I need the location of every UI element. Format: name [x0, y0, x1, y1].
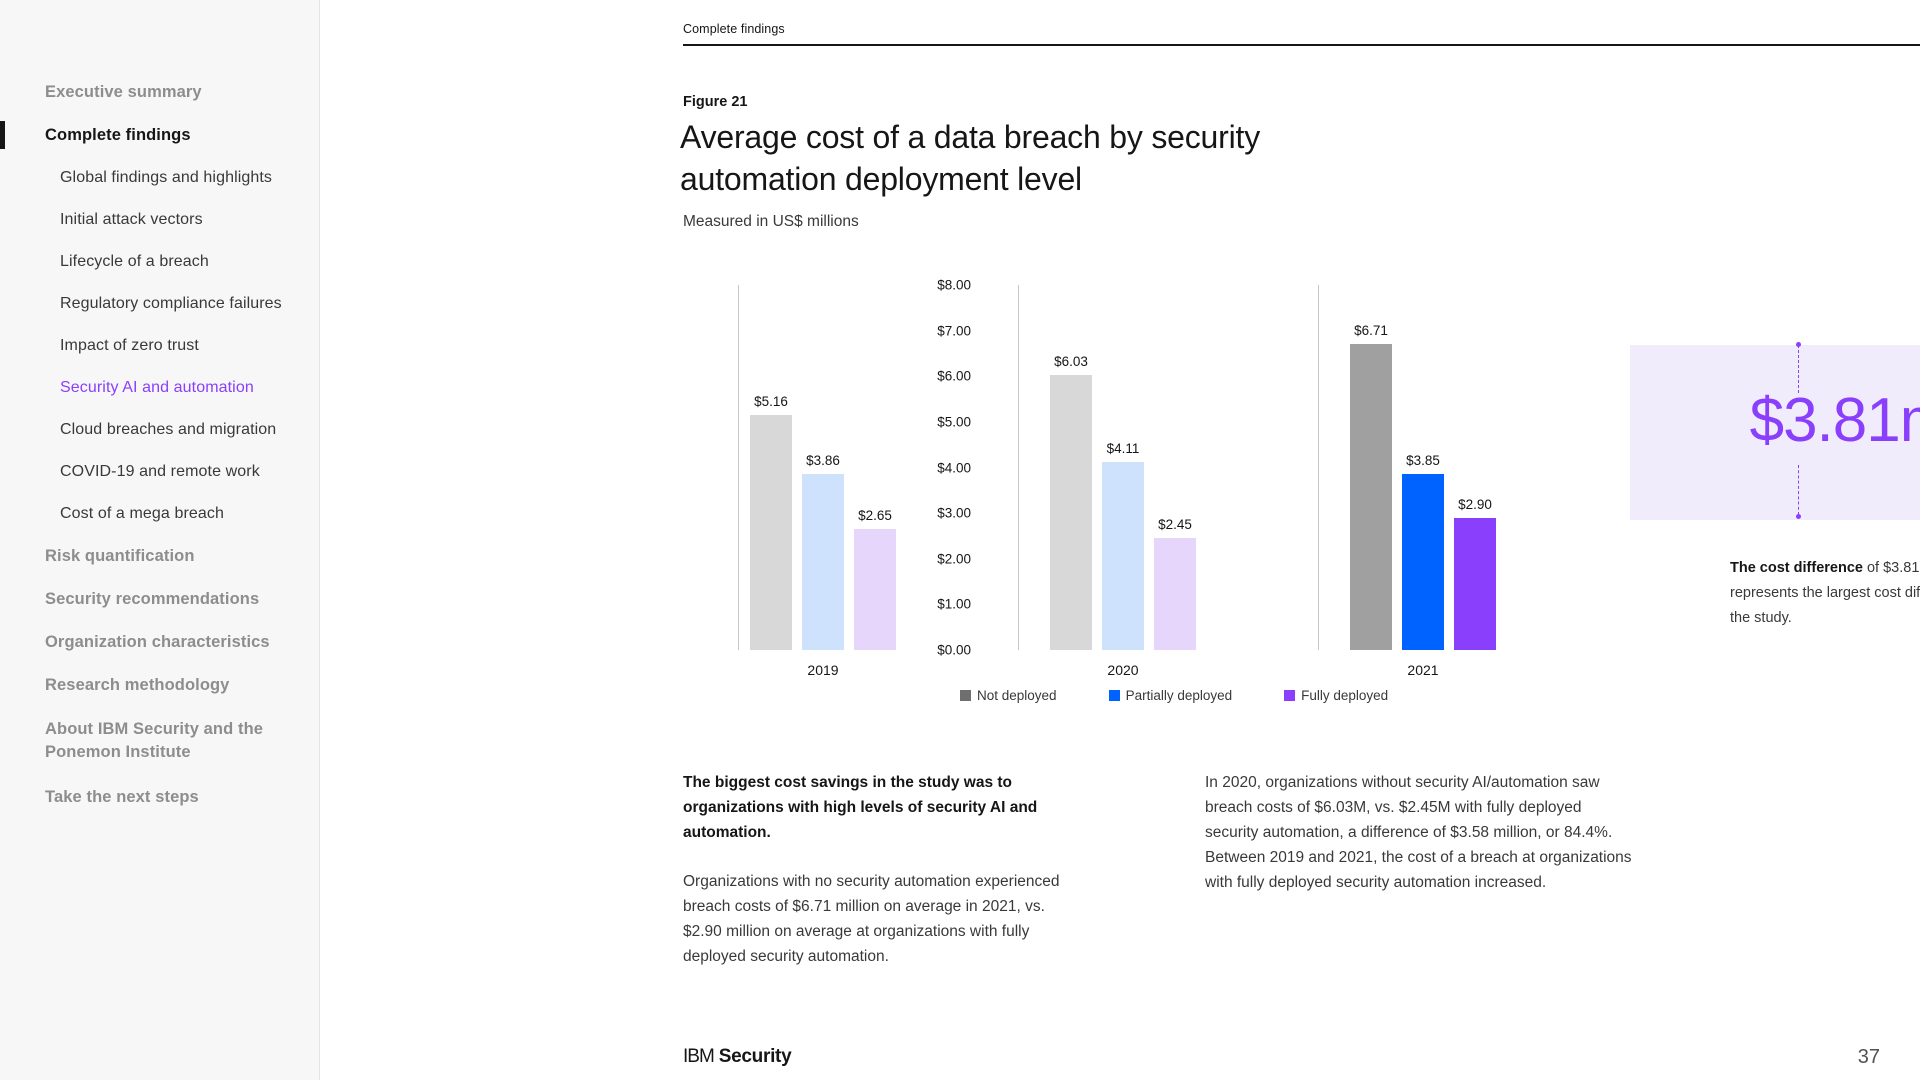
- group-separator-line: [1318, 285, 1319, 650]
- sidebar-item-label: Cloud breaches and migration: [60, 421, 276, 438]
- report-page: Executive summaryComplete findingsGlobal…: [0, 0, 1920, 1080]
- sidebar-item-label: Risk quantification: [45, 547, 195, 565]
- bar: [1102, 462, 1144, 650]
- bar: [1154, 538, 1196, 650]
- sidebar-nav: Executive summaryComplete findingsGlobal…: [0, 0, 320, 1080]
- legend-label: Fully deployed: [1301, 688, 1388, 703]
- left-lead-paragraph: The biggest cost savings in the study wa…: [683, 770, 1083, 845]
- callout-dot-bottom: [1796, 514, 1801, 519]
- bar: [1050, 375, 1092, 650]
- sidebar-item-label: Lifecycle of a breach: [60, 253, 209, 270]
- bar-value-label: $2.45: [1130, 517, 1220, 532]
- page-title: Average cost of a data breach by securit…: [680, 116, 1300, 200]
- callout-caption: The cost difference of $3.81 million rep…: [1730, 556, 1920, 631]
- sidebar-item-global-findings-and-highlights[interactable]: Global findings and highlights: [0, 168, 319, 188]
- sidebar-item-list: Executive summaryComplete findingsGlobal…: [0, 82, 319, 807]
- bar: [802, 474, 844, 650]
- bar: [1454, 518, 1496, 650]
- callout-dashed-line-bottom: [1798, 465, 1799, 515]
- sidebar-item-regulatory-compliance-failures[interactable]: Regulatory compliance failures: [0, 294, 319, 314]
- sidebar-item-impact-of-zero-trust[interactable]: Impact of zero trust: [0, 336, 319, 356]
- sidebar-item-risk-quantification[interactable]: Risk quantification: [0, 546, 319, 566]
- x-axis-group-label: 2019: [807, 662, 838, 678]
- sidebar-item-label: Cost of a mega breach: [60, 505, 224, 522]
- legend-item[interactable]: Fully deployed: [1284, 688, 1388, 703]
- legend-item[interactable]: Partially deployed: [1109, 688, 1233, 703]
- sidebar-item-label: About IBM Security and the Ponemon Insti…: [45, 720, 263, 761]
- sidebar-item-label: Take the next steps: [45, 788, 199, 806]
- legend-swatch-icon: [1284, 690, 1295, 701]
- bar-value-label: $3.86: [778, 453, 868, 468]
- sidebar-item-label: Research methodology: [45, 676, 229, 694]
- sidebar-item-label: Complete findings: [45, 126, 191, 144]
- sidebar-item-cloud-breaches-and-migration[interactable]: Cloud breaches and migration: [0, 420, 319, 440]
- legend-label: Not deployed: [977, 688, 1057, 703]
- body-column-left: The biggest cost savings in the study wa…: [683, 770, 1083, 969]
- bar-value-label: $2.65: [830, 508, 920, 523]
- bar: [750, 415, 792, 650]
- bar-value-label: $4.11: [1078, 441, 1168, 456]
- sidebar-item-lifecycle-of-a-breach[interactable]: Lifecycle of a breach: [0, 252, 319, 272]
- figure-subtitle: Measured in US$ millions: [683, 213, 859, 231]
- sidebar-item-label: Security AI and automation: [60, 379, 254, 396]
- page-number: 37: [1858, 1046, 1880, 1069]
- sidebar-item-label: Regulatory compliance failures: [60, 295, 282, 312]
- main-content: Complete findings Figure 21 Average cost…: [320, 0, 1920, 1080]
- legend-swatch-icon: [1109, 690, 1120, 701]
- right-body-paragraph: In 2020, organizations without security …: [1205, 770, 1635, 895]
- bar: [854, 529, 896, 650]
- sidebar-item-complete-findings[interactable]: Complete findings: [0, 125, 319, 145]
- body-column-right: In 2020, organizations without security …: [1205, 770, 1635, 895]
- sidebar-item-label: Global findings and highlights: [60, 169, 272, 186]
- bar-value-label: $3.85: [1378, 453, 1468, 468]
- logo-ibm-text: IBM: [683, 1046, 714, 1067]
- header-divider: [683, 44, 1920, 46]
- plot-area: $5.16$3.86$2.652019$6.03$4.11$2.452020$6…: [738, 285, 1638, 650]
- bar-value-label: $5.16: [726, 394, 816, 409]
- legend-label: Partially deployed: [1126, 688, 1233, 703]
- sidebar-item-security-ai-and-automation[interactable]: Security AI and automation: [0, 378, 319, 398]
- breadcrumb: Complete findings: [683, 22, 785, 36]
- legend-item[interactable]: Not deployed: [960, 688, 1057, 703]
- sidebar-item-label: COVID-19 and remote work: [60, 463, 260, 480]
- sidebar-item-research-methodology[interactable]: Research methodology: [0, 675, 319, 695]
- sidebar-item-about-ibm-security-and-the-ponemon-institute[interactable]: About IBM Security and the Ponemon Insti…: [0, 718, 319, 764]
- sidebar-item-executive-summary[interactable]: Executive summary: [0, 82, 319, 102]
- sidebar-item-label: Initial attack vectors: [60, 211, 203, 228]
- chart-legend: Not deployedPartially deployedFully depl…: [960, 688, 1388, 703]
- sidebar-item-organization-characteristics[interactable]: Organization characteristics: [0, 632, 319, 652]
- sidebar-item-security-recommendations[interactable]: Security recommendations: [0, 589, 319, 609]
- sidebar-item-label: Security recommendations: [45, 590, 259, 608]
- sidebar-item-cost-of-a-mega-breach[interactable]: Cost of a mega breach: [0, 504, 319, 524]
- callout-caption-bold: The cost difference: [1730, 560, 1863, 576]
- x-axis-group-label: 2020: [1107, 662, 1138, 678]
- legend-swatch-icon: [960, 690, 971, 701]
- sidebar-item-label: Organization characteristics: [45, 633, 270, 651]
- left-body-paragraph: Organizations with no security automatio…: [683, 869, 1083, 969]
- bar: [1350, 344, 1392, 650]
- figure-label: Figure 21: [683, 94, 747, 110]
- group-separator-line: [1018, 285, 1019, 650]
- sidebar-item-label: Executive summary: [45, 83, 202, 101]
- bar-value-label: $2.90: [1430, 497, 1520, 512]
- sidebar-item-take-the-next-steps[interactable]: Take the next steps: [0, 787, 319, 807]
- sidebar-item-covid-19-and-remote-work[interactable]: COVID-19 and remote work: [0, 462, 319, 482]
- sidebar-item-initial-attack-vectors[interactable]: Initial attack vectors: [0, 210, 319, 230]
- callout-value: $3.81m: [1650, 385, 1920, 457]
- sidebar-item-label: Impact of zero trust: [60, 337, 199, 354]
- x-axis-group-label: 2021: [1407, 662, 1438, 678]
- bar-value-label: $6.03: [1026, 354, 1116, 369]
- ibm-security-logo: IBM Security: [683, 1046, 791, 1068]
- bar-value-label: $6.71: [1326, 323, 1416, 338]
- logo-security-text: Security: [719, 1046, 792, 1067]
